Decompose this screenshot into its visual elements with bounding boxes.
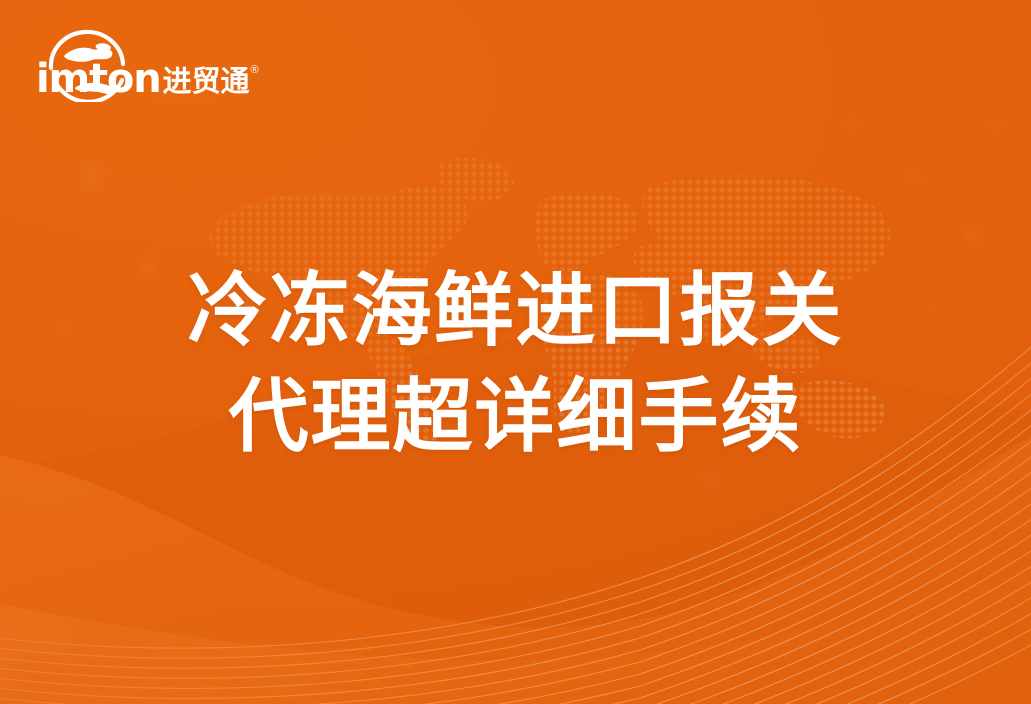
- logo-cjk-text: 进贸通: [162, 67, 249, 96]
- promo-banner: imton 进贸通 ® 冷冻海鲜进口报关 代理超详细手续: [0, 0, 1031, 704]
- logo-wordmark: imton 进贸通 ®: [36, 61, 259, 98]
- logo-latin-text: imton: [36, 61, 160, 98]
- registered-trademark-icon: ®: [251, 65, 259, 76]
- brand-logo[interactable]: imton 进贸通 ®: [36, 24, 236, 106]
